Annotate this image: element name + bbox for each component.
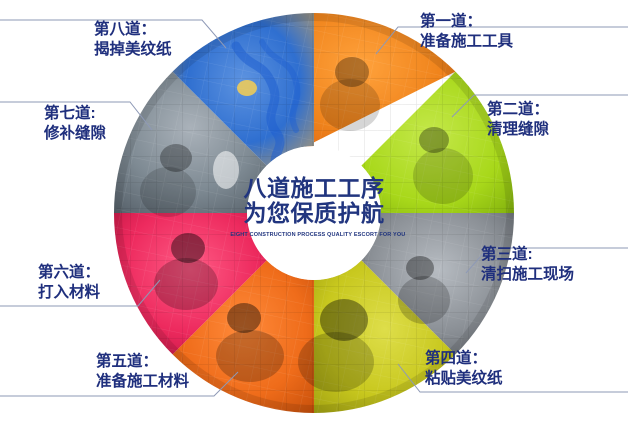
step-label-1[interactable]: 第一道： 准备施工工具 — [420, 12, 513, 52]
step-label-6[interactable]: 第六道： 打入材料 — [38, 263, 100, 303]
step-label-3[interactable]: 第三道: 清扫施工现场 — [481, 245, 574, 285]
step-2-title: 第二道： — [487, 100, 549, 120]
step-label-7[interactable]: 第七道: 修补缝隙 — [44, 104, 106, 144]
step-2-desc: 清理缝隙 — [487, 120, 549, 140]
infographic-stage: 八道施工工序 为您保质护航 EIGHT CONSTRUCTION PROCESS… — [0, 0, 628, 427]
step-label-4[interactable]: 第四道： 粘贴美纹纸 — [425, 349, 503, 389]
step-1-desc: 准备施工工具 — [420, 32, 513, 52]
process-wheel — [0, 0, 628, 427]
step-6-desc: 打入材料 — [38, 283, 100, 303]
step-6-title: 第六道： — [38, 263, 100, 283]
step-4-desc: 粘贴美纹纸 — [425, 369, 503, 389]
step-7-title: 第七道: — [44, 104, 106, 124]
step-3-title: 第三道: — [481, 245, 574, 265]
step-5-desc: 准备施工材料 — [96, 372, 189, 392]
step-label-5[interactable]: 第五道： 准备施工材料 — [96, 352, 189, 392]
step-7-desc: 修补缝隙 — [44, 124, 106, 144]
step-label-2[interactable]: 第二道： 清理缝隙 — [487, 100, 549, 140]
step-5-title: 第五道： — [96, 352, 189, 372]
step-8-title: 第八道： — [94, 20, 172, 40]
step-3-desc: 清扫施工现场 — [481, 265, 574, 285]
center-disc — [247, 146, 381, 280]
step-8-desc: 揭掉美纹纸 — [94, 40, 172, 60]
step-1-title: 第一道： — [420, 12, 513, 32]
step-4-title: 第四道： — [425, 349, 503, 369]
step-label-8[interactable]: 第八道： 揭掉美纹纸 — [94, 20, 172, 60]
